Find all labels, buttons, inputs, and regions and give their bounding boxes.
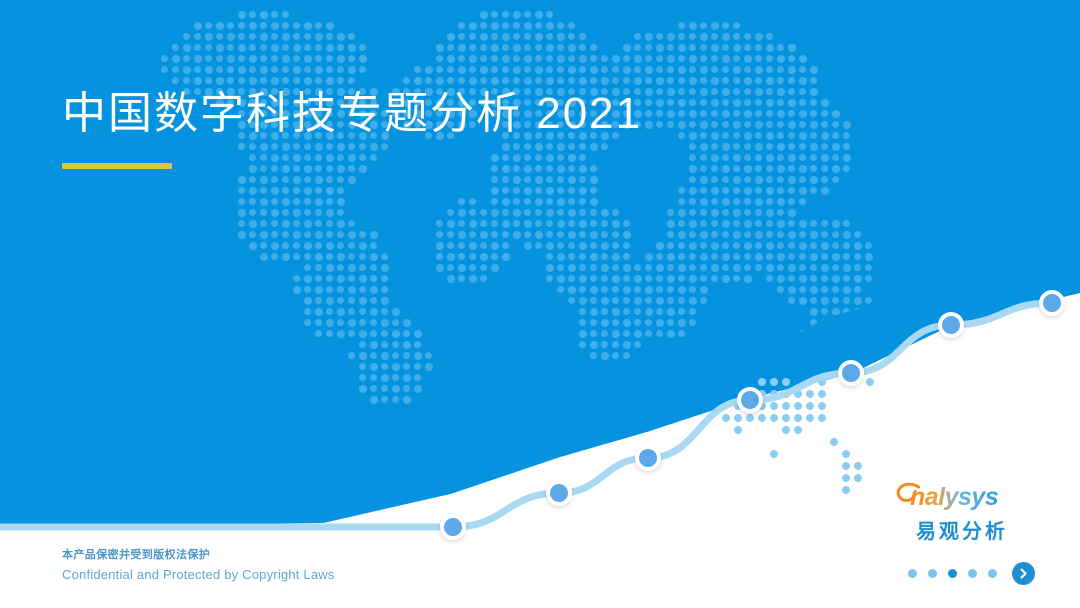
svg-text:nalysys: nalysys [910,483,999,511]
chart-node-marker-2 [635,445,661,471]
pager-dot[interactable] [988,569,997,578]
chart-node-marker-0 [440,514,466,540]
pager-dot[interactable] [968,569,977,578]
page-title: 中国数字科技专题分析 2021 [62,88,642,141]
chart-node-marker-5 [938,312,964,338]
chevron-right-icon [1018,568,1029,579]
chart-node-marker-3 [737,387,763,413]
chart-node-marker-4 [838,360,864,386]
pager-dot[interactable] [928,569,937,578]
analysys-wordmark-icon: nalysys [896,480,1028,514]
copyright-notice-en: Confidential and Protected by Copyright … [62,564,335,585]
copyright-notice-cn: 本产品保密并受到版权法保护 [62,546,335,564]
title-block: 中国数字科技专题分析 2021 [62,88,642,169]
pager-dot[interactable] [908,569,917,578]
pagination-control[interactable] [908,562,1035,585]
title-underline-rule [62,163,172,169]
chart-node-marker-1 [546,480,572,506]
chart-node-marker-6 [1039,290,1065,316]
next-slide-button[interactable] [1012,562,1035,585]
copyright-notice: 本产品保密并受到版权法保护 Confidential and Protected… [62,546,335,586]
brand-name-cn: 易观分析 [896,515,1028,544]
pager-dot-active[interactable] [948,569,957,578]
brand-logo: nalysys 易观分析 [896,480,1028,544]
cover-slide: 中国数字科技专题分析 2021 本产品保密并受到版权法保护 Confidenti… [0,0,1080,608]
